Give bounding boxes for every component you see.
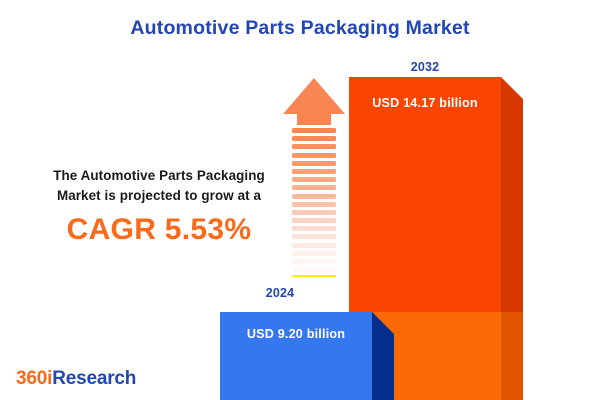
statement-line-2: Market is projected to grow at a xyxy=(18,186,300,206)
arrow-stripe xyxy=(292,218,336,223)
bar-value-2032: USD 14.17 billion xyxy=(349,96,501,110)
arrow-stripe xyxy=(292,136,336,141)
arrow-stripe xyxy=(292,275,336,277)
page-title: Automotive Parts Packaging Market xyxy=(0,17,600,40)
arrow-stripe xyxy=(292,144,336,149)
bar-label-2032: 2032 xyxy=(349,60,501,74)
arrow-stripe xyxy=(292,226,336,231)
arrow-stripe xyxy=(292,169,336,174)
arrow-head-icon xyxy=(283,78,345,114)
arrow-stripe xyxy=(292,153,336,158)
arrow-stripe xyxy=(292,251,336,256)
arrow-stripe xyxy=(292,259,336,264)
arrow-neck xyxy=(297,114,331,125)
statement-line-1: The Automotive Parts Packaging xyxy=(18,166,300,186)
statement-block: The Automotive Parts Packaging Market is… xyxy=(18,166,300,247)
arrow-stripe xyxy=(292,267,336,272)
bar-label-2024: 2024 xyxy=(220,286,340,300)
bar-value-2024: USD 9.20 billion xyxy=(220,327,372,341)
arrow-stripe xyxy=(292,161,336,166)
arrow-stripe xyxy=(292,202,336,207)
cagr-value: CAGR 5.53% xyxy=(18,213,300,247)
bar-2032-overlap-side xyxy=(501,312,523,400)
arrow-stripe xyxy=(292,243,336,248)
arrow-stripe xyxy=(292,128,336,133)
growth-arrow-icon xyxy=(283,78,345,290)
arrow-stripe xyxy=(292,185,336,190)
infographic-canvas: Automotive Parts Packaging Market The Au… xyxy=(0,0,600,400)
brand-logo[interactable]: 360iResearch xyxy=(16,368,136,390)
logo-text-360: 360 xyxy=(16,368,47,389)
arrow-stripe xyxy=(292,234,336,239)
bar-2024-face xyxy=(220,312,372,400)
arrow-stripe xyxy=(292,177,336,182)
arrow-stripe xyxy=(292,194,336,199)
arrow-stripe xyxy=(292,210,336,215)
logo-text-research: Research xyxy=(52,368,136,389)
arrow-stripe-stack xyxy=(292,128,336,290)
